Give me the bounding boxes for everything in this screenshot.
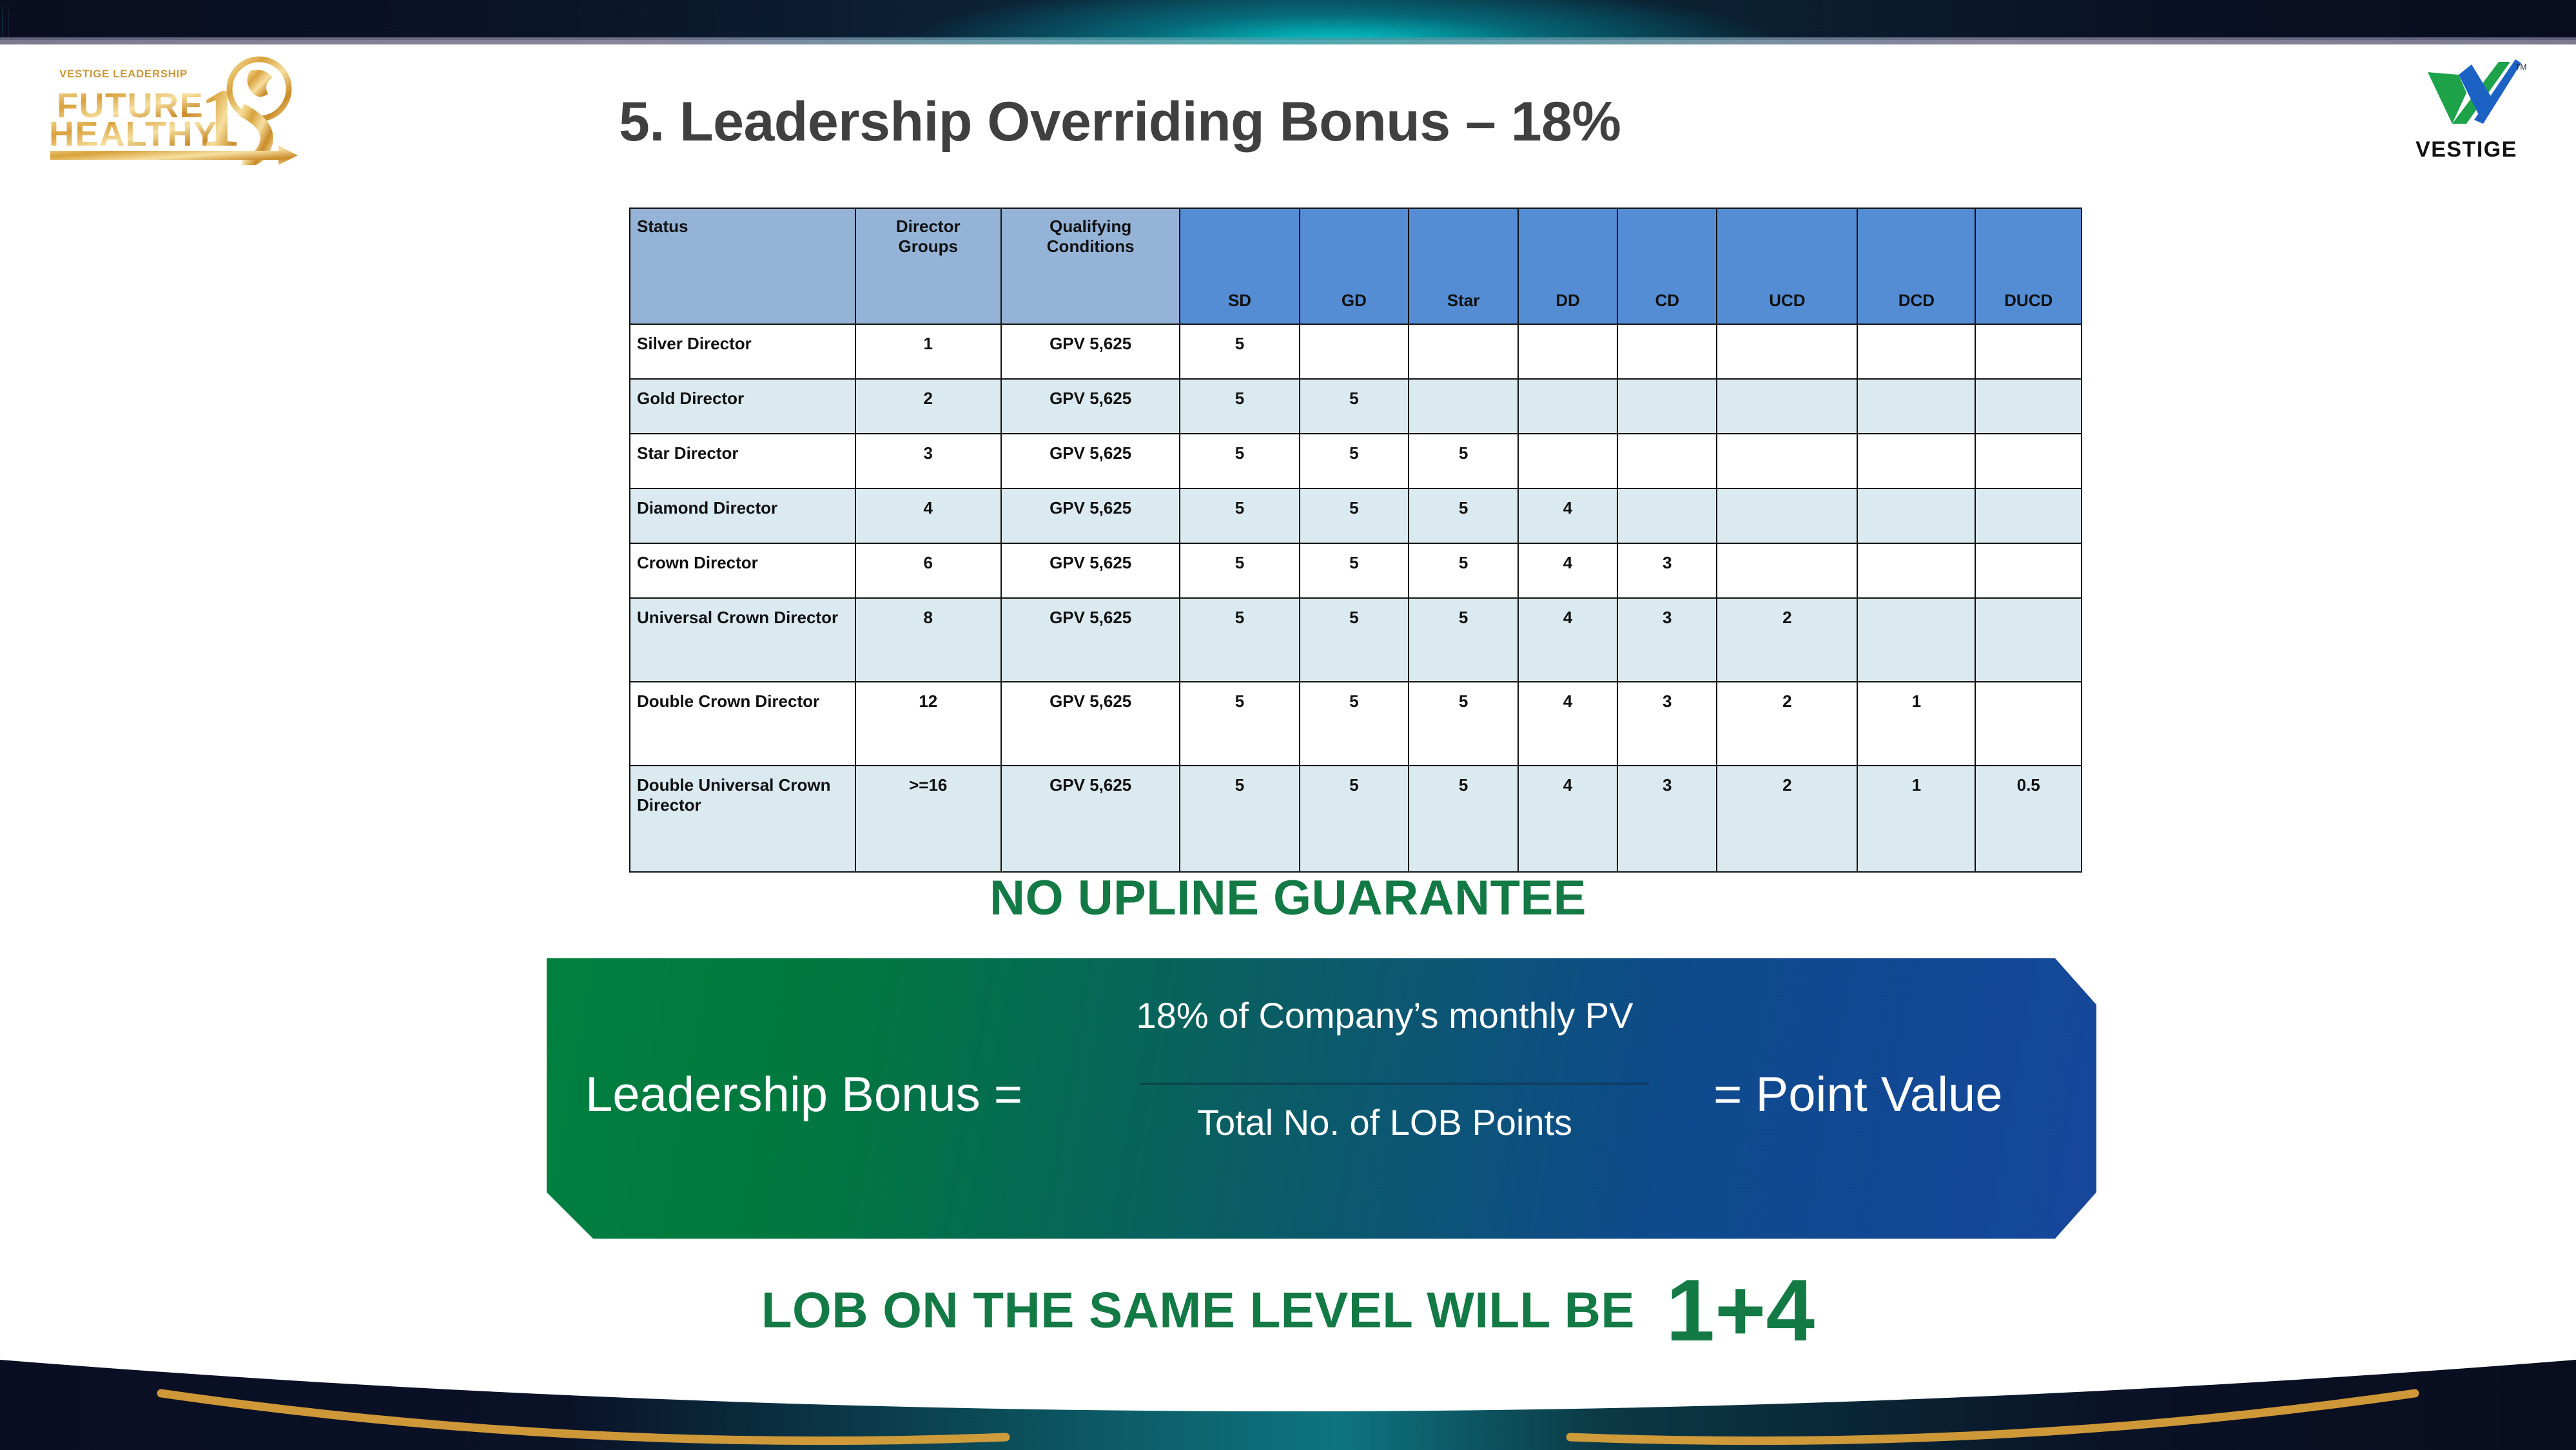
cell-level-dcd (1857, 324, 1975, 379)
cell-groups: 2 (855, 379, 1001, 434)
cell-level-dcd: 1 (1857, 682, 1975, 766)
table-header-row: Status Director Groups Qualifying Condit… (630, 208, 2082, 324)
formula-numerator: 18% of Company’s monthly PV (1082, 994, 1688, 1036)
cell-status: Crown Director (630, 543, 855, 598)
cell-level-dd (1518, 434, 1617, 488)
logo-number-1: 1 (200, 72, 241, 164)
cell-level-ucd: 2 (1717, 766, 1857, 872)
cell-level-ucd: 2 (1717, 598, 1857, 682)
cell-level-ducd (1975, 488, 2082, 543)
cell-level-sd: 5 (1180, 379, 1299, 434)
cell-level-gd (1300, 324, 1409, 379)
table-row: Crown Director6GPV 5,62555543 (630, 543, 2082, 598)
slide-canvas: VESTIGE LEADERSHIP FUTURE HEALTHY 1 TM V… (0, 0, 2576, 1450)
cell-groups: 1 (855, 324, 1001, 379)
cell-level-star: 5 (1409, 488, 1518, 543)
cell-level-gd: 5 (1300, 434, 1409, 488)
cell-level-cd (1617, 434, 1717, 488)
cell-level-sd: 5 (1180, 543, 1299, 598)
cell-level-cd (1617, 379, 1717, 434)
cell-groups: 12 (855, 682, 1001, 766)
cell-level-sd: 5 (1180, 434, 1299, 488)
cell-status: Double Universal Crown Director (630, 766, 855, 872)
col-header-director-groups-l2: Groups (863, 237, 994, 256)
cell-conditions: GPV 5,625 (1001, 324, 1180, 379)
formula-denominator: Total No. of LOB Points (1082, 1101, 1688, 1143)
cell-level-ucd (1717, 543, 1857, 598)
table-row: Double Crown Director12GPV 5,6255554321 (630, 682, 2082, 766)
logo-globe-landmass (247, 70, 272, 97)
formula-right-label: = Point Value (1713, 1067, 2003, 1123)
formula-banner: Leadership Bonus = 18% of Company’s mont… (547, 958, 2096, 1239)
svg-text:TM: TM (2515, 63, 2526, 72)
bottom-decorative-swoosh (0, 1334, 2576, 1450)
cell-level-dd: 4 (1518, 543, 1617, 598)
page-title: 5. Leadership Overriding Bonus – 18% (619, 90, 2037, 154)
table-row: Diamond Director4GPV 5,6255554 (630, 488, 2082, 543)
col-header-qualifying-conditions-l1: Qualifying (1008, 217, 1173, 237)
cell-level-star: 5 (1409, 434, 1518, 488)
cell-level-dcd (1857, 434, 1975, 488)
cell-conditions: GPV 5,625 (1001, 682, 1180, 766)
cell-level-gd: 5 (1300, 543, 1409, 598)
cell-level-star (1409, 324, 1518, 379)
cell-level-ducd (1975, 324, 2082, 379)
table-body: Silver Director1GPV 5,6255Gold Director2… (630, 324, 2082, 872)
cell-groups: 8 (855, 598, 1001, 682)
cell-level-star: 5 (1409, 682, 1518, 766)
cell-conditions: GPV 5,625 (1001, 766, 1180, 872)
col-header-star: Star (1409, 208, 1518, 324)
cell-level-dcd (1857, 543, 1975, 598)
table-row: Universal Crown Director8GPV 5,625555432 (630, 598, 2082, 682)
col-header-dcd: DCD (1857, 208, 1975, 324)
cell-level-dcd: 1 (1857, 766, 1975, 872)
cell-status: Gold Director (630, 379, 855, 434)
cell-conditions: GPV 5,625 (1001, 543, 1180, 598)
no-upline-guarantee-heading: NO UPLINE GUARANTEE (0, 870, 2576, 926)
top-decorative-bar (0, 0, 2576, 40)
cell-level-dcd (1857, 598, 1975, 682)
cell-level-ducd (1975, 682, 2082, 766)
cell-level-dd: 4 (1518, 766, 1617, 872)
cell-level-dd: 4 (1518, 682, 1617, 766)
cell-level-ducd (1975, 598, 2082, 682)
cell-level-dd: 4 (1518, 488, 1617, 543)
cell-level-gd: 5 (1300, 682, 1409, 766)
cell-level-dcd (1857, 488, 1975, 543)
cell-level-cd (1617, 488, 1717, 543)
logo-tagline: VESTIGE LEADERSHIP (59, 68, 188, 80)
cell-level-cd (1617, 324, 1717, 379)
cell-level-gd: 5 (1300, 766, 1409, 872)
col-header-ucd: UCD (1717, 208, 1857, 324)
vestige-logo: TM VESTIGE (2402, 55, 2531, 165)
formula-fraction-bar (1140, 1083, 1649, 1085)
table-row: Gold Director2GPV 5,62555 (630, 379, 2082, 434)
cell-status: Silver Director (630, 324, 855, 379)
cell-level-gd: 5 (1300, 598, 1409, 682)
cell-level-ucd (1717, 488, 1857, 543)
table-row: Silver Director1GPV 5,6255 (630, 324, 2082, 379)
cell-level-sd: 5 (1180, 766, 1299, 872)
cell-level-ucd (1717, 434, 1857, 488)
table-row: Star Director3GPV 5,625555 (630, 434, 2082, 488)
cell-level-ucd: 2 (1717, 682, 1857, 766)
cell-level-gd: 5 (1300, 379, 1409, 434)
leadership-bonus-table-wrap: Status Director Groups Qualifying Condit… (629, 208, 2082, 873)
cell-status: Star Director (630, 434, 855, 488)
cell-level-sd: 5 (1180, 324, 1299, 379)
top-bar-underline (0, 37, 2576, 44)
cell-conditions: GPV 5,625 (1001, 598, 1180, 682)
cell-groups: >=16 (855, 766, 1001, 872)
logo-word-healthy: HEALTHY (49, 115, 218, 153)
table-row: Double Universal Crown Director>=16GPV 5… (630, 766, 2082, 872)
cell-level-star: 5 (1409, 543, 1518, 598)
cell-conditions: GPV 5,625 (1001, 488, 1180, 543)
cell-level-sd: 5 (1180, 598, 1299, 682)
col-header-gd: GD (1300, 208, 1409, 324)
formula-left-label: Leadership Bonus = (585, 1067, 1022, 1123)
cell-level-ucd (1717, 324, 1857, 379)
cell-level-star: 5 (1409, 598, 1518, 682)
cell-level-gd: 5 (1300, 488, 1409, 543)
cell-level-dd (1518, 379, 1617, 434)
vestige-wordmark: VESTIGE (2402, 137, 2531, 162)
col-header-status: Status (630, 208, 855, 324)
cell-level-dd: 4 (1518, 598, 1617, 682)
cell-groups: 4 (855, 488, 1001, 543)
col-header-director-groups-l1: Director (863, 217, 994, 237)
cell-level-ducd: 0.5 (1975, 766, 2082, 872)
leadership-bonus-table: Status Director Groups Qualifying Condit… (629, 208, 2082, 873)
cell-conditions: GPV 5,625 (1001, 379, 1180, 434)
cell-groups: 6 (855, 543, 1001, 598)
cell-conditions: GPV 5,625 (1001, 434, 1180, 488)
cell-level-sd: 5 (1180, 682, 1299, 766)
col-header-ducd: DUCD (1975, 208, 2082, 324)
cell-groups: 3 (855, 434, 1001, 488)
cell-status: Universal Crown Director (630, 598, 855, 682)
cell-level-ducd (1975, 543, 2082, 598)
col-header-director-groups: Director Groups (855, 208, 1001, 324)
cell-status: Double Crown Director (630, 682, 855, 766)
top-bar-streaks (0, 0, 2576, 40)
cell-level-cd: 3 (1617, 682, 1717, 766)
cell-level-star (1409, 379, 1518, 434)
col-header-dd: DD (1518, 208, 1617, 324)
cell-level-dd (1518, 324, 1617, 379)
swoosh-shape (0, 1360, 2576, 1450)
col-header-cd: CD (1617, 208, 1717, 324)
cell-status: Diamond Director (630, 488, 855, 543)
cell-level-cd: 3 (1617, 766, 1717, 872)
cell-level-ducd (1975, 379, 2082, 434)
cell-level-sd: 5 (1180, 488, 1299, 543)
col-header-sd: SD (1180, 208, 1299, 324)
vestige-checkmark-icon: TM (2402, 55, 2531, 133)
cell-level-cd: 3 (1617, 543, 1717, 598)
cell-level-cd: 3 (1617, 598, 1717, 682)
cell-level-ucd (1717, 379, 1857, 434)
cell-level-ducd (1975, 434, 2082, 488)
cell-level-star: 5 (1409, 766, 1518, 872)
future-healthy-logo: VESTIGE LEADERSHIP FUTURE HEALTHY 1 (34, 43, 311, 165)
col-header-qualifying-conditions-l2: Conditions (1008, 237, 1173, 256)
lob-same-level-text: LOB ON THE SAME LEVEL WILL BE (761, 1282, 1635, 1339)
col-header-qualifying-conditions: Qualifying Conditions (1001, 208, 1180, 324)
cell-level-dcd (1857, 379, 1975, 434)
